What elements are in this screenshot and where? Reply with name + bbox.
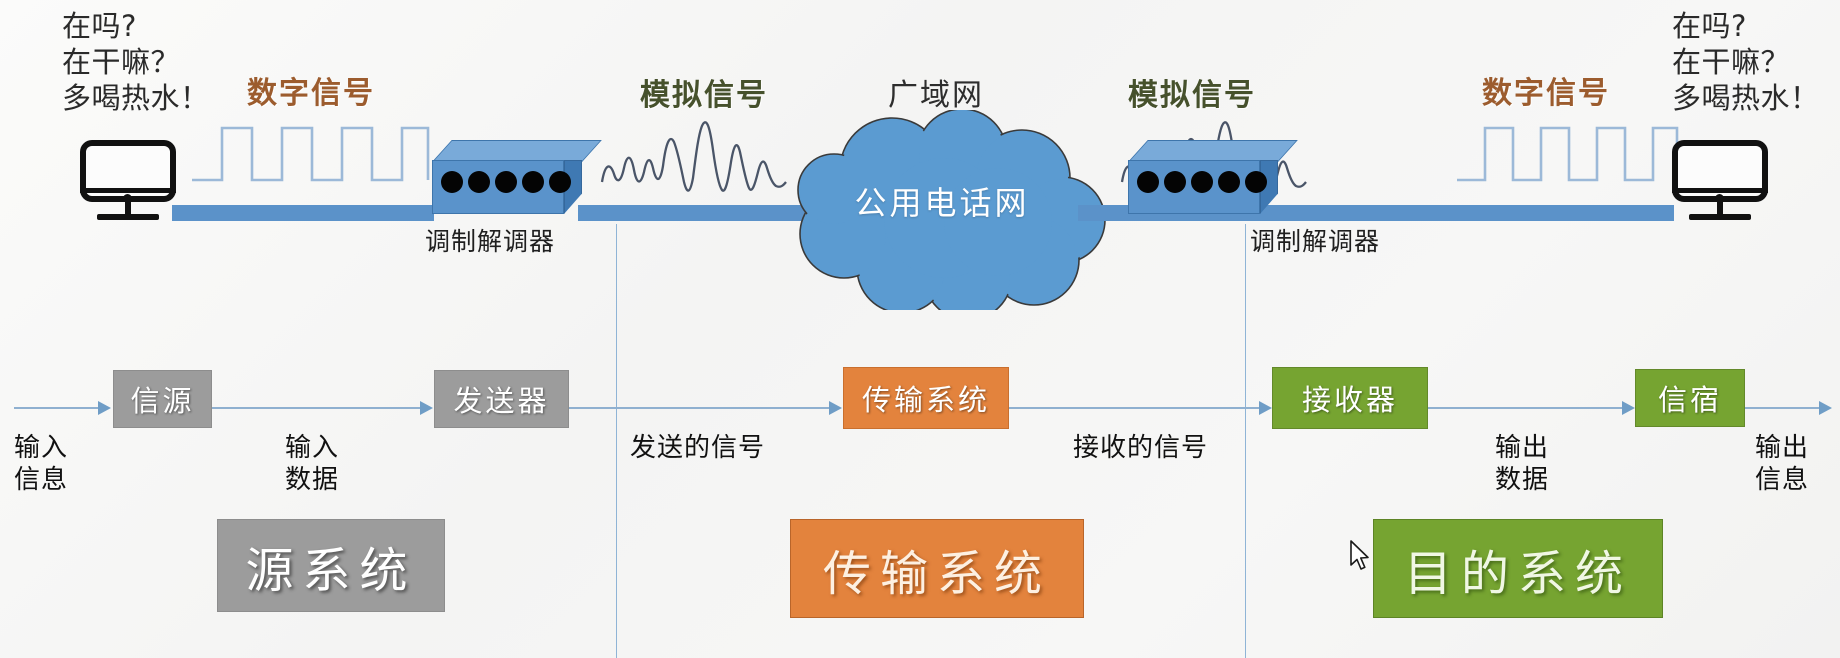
modem-port bbox=[1245, 171, 1267, 193]
modem-port bbox=[1191, 171, 1213, 193]
square-wave-icon-right bbox=[1455, 118, 1680, 194]
modem-port bbox=[495, 171, 517, 193]
square-wave-icon-left bbox=[190, 118, 430, 194]
flow-box-transmission-system[interactable]: 传输系统 bbox=[843, 367, 1009, 429]
monitor-chin-divider bbox=[1672, 188, 1768, 193]
flow-note-input-data: 输入 数据 bbox=[285, 432, 339, 496]
cloud-icon: 公用电话网 bbox=[772, 110, 1112, 310]
modem-top-face bbox=[1128, 140, 1298, 162]
flow-note-input-info: 输入 信息 bbox=[14, 432, 68, 496]
analog-wave-icon-left bbox=[598, 112, 788, 208]
flow-arrow-head bbox=[420, 401, 433, 415]
modem-ports bbox=[1137, 171, 1267, 193]
modem-port bbox=[522, 171, 544, 193]
wan-label: 广域网 bbox=[888, 70, 984, 114]
modem-port bbox=[1137, 171, 1159, 193]
section-divider-left bbox=[616, 224, 617, 658]
cable-right-modem-to-monitor bbox=[1274, 205, 1674, 221]
chat-text-left: 在吗? 在干嘛？ 多喝热水！ bbox=[62, 8, 210, 116]
modem-port bbox=[549, 171, 571, 193]
monitor-stand-base bbox=[1689, 214, 1751, 220]
monitor-right bbox=[1672, 140, 1768, 222]
flow-note-output-data: 输出 数据 bbox=[1495, 432, 1549, 496]
flow-arrow-head bbox=[98, 401, 111, 415]
mouse-pointer-icon bbox=[1349, 540, 1371, 576]
modem-port bbox=[441, 171, 463, 193]
modem-left bbox=[432, 140, 582, 214]
flow-box-transmitter[interactable]: 发送器 bbox=[434, 370, 569, 428]
cable-left-monitor-to-modem bbox=[172, 205, 434, 221]
digital-signal-label-left: 数字信号 bbox=[247, 68, 375, 112]
flow-note-sent-signal: 发送的信号 bbox=[630, 432, 765, 464]
system-label-source[interactable]: 源系统 bbox=[217, 519, 445, 612]
flow-arrow-input-info bbox=[14, 407, 100, 409]
flow-box-receiver[interactable]: 接收器 bbox=[1272, 367, 1428, 429]
chat-text-right: 在吗? 在干嘛？ 多喝热水！ bbox=[1672, 8, 1820, 116]
modem-caption-right: 调制解调器 bbox=[1250, 222, 1380, 258]
flow-note-output-info: 输出 信息 bbox=[1755, 432, 1809, 496]
analog-signal-label-right: 模拟信号 bbox=[1128, 70, 1256, 114]
flow-arrow-head bbox=[1622, 401, 1635, 415]
modem-port bbox=[468, 171, 490, 193]
flow-arrow-output-info bbox=[1745, 407, 1821, 409]
flow-box-source[interactable]: 信源 bbox=[113, 370, 212, 428]
flow-arrow-sent-signal bbox=[569, 407, 831, 409]
monitor-left bbox=[80, 140, 176, 222]
system-label-transmission[interactable]: 传输系统 bbox=[790, 519, 1084, 618]
analog-signal-label-left: 模拟信号 bbox=[640, 70, 768, 114]
system-label-destination[interactable]: 目的系统 bbox=[1373, 519, 1663, 618]
flow-note-received-signal: 接收的信号 bbox=[1073, 432, 1208, 464]
modem-top-face bbox=[432, 140, 602, 162]
modem-ports bbox=[441, 171, 571, 193]
modem-port bbox=[1164, 171, 1186, 193]
digital-signal-label-right: 数字信号 bbox=[1482, 68, 1610, 112]
modem-caption-left: 调制解调器 bbox=[425, 222, 555, 258]
flow-arrow-received-signal bbox=[1009, 407, 1261, 409]
diagram-canvas: 在吗? 在干嘛？ 多喝热水！ 数字信号 调制解调器 模拟信号 bbox=[0, 0, 1840, 658]
modem-port bbox=[1218, 171, 1240, 193]
flow-arrow-head bbox=[829, 401, 842, 415]
modem-right bbox=[1128, 140, 1278, 214]
flow-arrow-output-data bbox=[1428, 407, 1624, 409]
monitor-chin-divider bbox=[80, 188, 176, 193]
flow-arrow-input-data bbox=[212, 407, 422, 409]
flow-arrow-head bbox=[1819, 401, 1832, 415]
flow-arrow-head bbox=[1259, 401, 1272, 415]
flow-box-destination[interactable]: 信宿 bbox=[1635, 369, 1745, 427]
monitor-stand-base bbox=[97, 214, 159, 220]
section-divider-right bbox=[1245, 224, 1246, 658]
